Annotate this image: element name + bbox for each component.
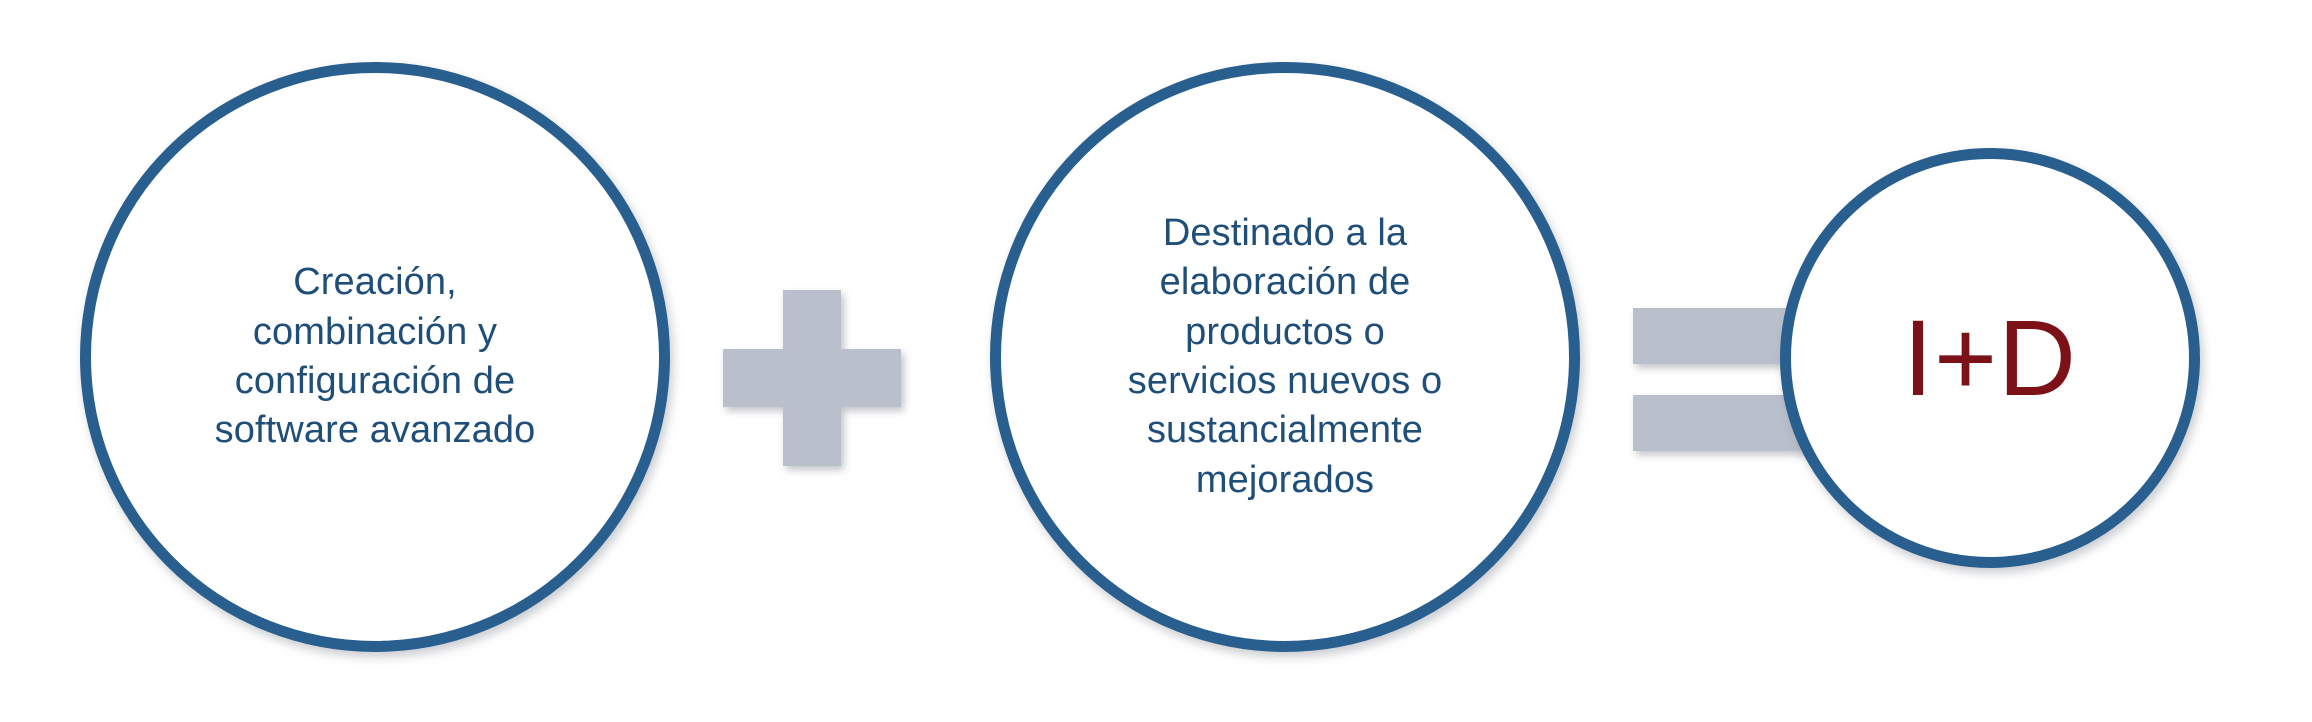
plus-operator-icon [723, 290, 901, 466]
equals-bottom-bar [1633, 395, 1806, 451]
diagram-canvas: Creación, combinación y configuración de… [0, 0, 2312, 722]
circle-node-destinado: Destinado a la elaboración de productos … [990, 62, 1580, 652]
circle-node-creacion-label: Creación, combinación y configuración de… [189, 258, 562, 456]
plus-vertical-bar [783, 290, 841, 466]
circle-node-resultado-label: I+D [1903, 304, 2077, 412]
circle-node-destinado-label: Destinado a la elaboración de productos … [1102, 209, 1468, 505]
equals-operator-icon [1633, 308, 1806, 451]
circle-node-creacion: Creación, combinación y configuración de… [80, 62, 670, 652]
circle-node-resultado: I+D [1780, 148, 2200, 568]
